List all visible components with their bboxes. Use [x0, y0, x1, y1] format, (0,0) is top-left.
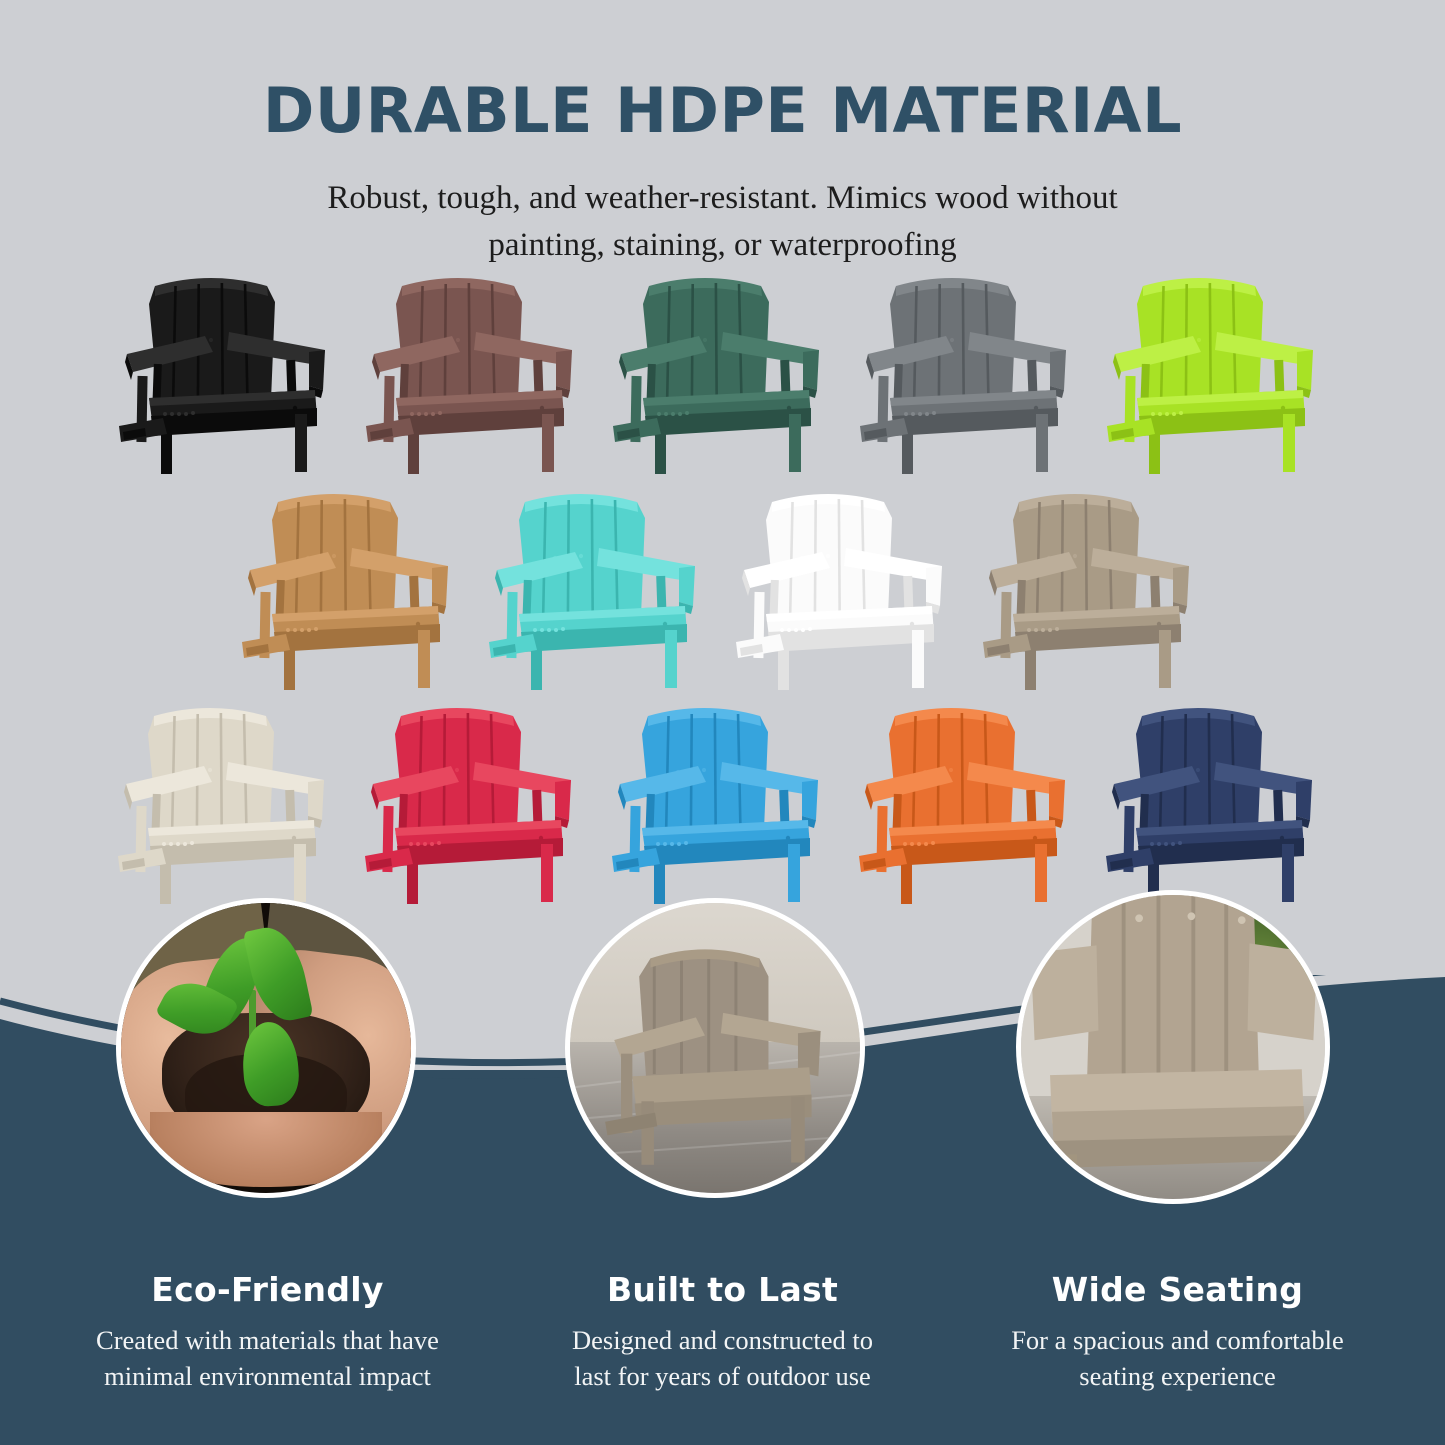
- feature-block: Eco-Friendly Created with materials that…: [40, 1270, 495, 1395]
- feature-image-built-to-last: [565, 898, 865, 1198]
- chair-swatch-light-blue[interactable]: [612, 698, 837, 910]
- chair-seat-subject: [1021, 895, 1325, 1199]
- feature-title: Eco-Friendly: [54, 1270, 481, 1309]
- chair-row-2: [0, 484, 1445, 696]
- feature-images: [0, 890, 1445, 1210]
- chair-swatch-orange[interactable]: [859, 698, 1084, 910]
- page-title: DURABLE HDPE MATERIAL: [0, 78, 1445, 143]
- feature-desc-line-1: For a spacious and comfortable: [1011, 1325, 1344, 1355]
- chair-swatch-dark-green[interactable]: [613, 268, 838, 480]
- chair-swatch-turquoise[interactable]: [489, 484, 714, 696]
- feature-image-eco-friendly: [116, 898, 416, 1198]
- photo-chair-on-patio: [570, 903, 860, 1193]
- chair-swatch-red[interactable]: [365, 698, 590, 910]
- feature-title: Built to Last: [509, 1270, 936, 1309]
- feature-description: Designed and constructed to last for yea…: [509, 1323, 936, 1395]
- feature-desc-line-2: seating experience: [1079, 1361, 1275, 1391]
- chair-swatch-navy-blue[interactable]: [1106, 698, 1331, 910]
- chair-swatch-weathered-wood[interactable]: [983, 484, 1208, 696]
- feature-desc-line-2: last for years of outdoor use: [574, 1361, 871, 1391]
- chair-row-1: [0, 268, 1445, 480]
- chair-swatch-ivory[interactable]: [118, 698, 343, 910]
- feature-description: For a spacious and comfortable seating e…: [964, 1323, 1391, 1395]
- chair-row-3: [0, 698, 1445, 910]
- feature-block: Wide Seating For a spacious and comforta…: [950, 1270, 1405, 1395]
- fingers: [150, 1112, 382, 1187]
- photo-seat-closeup: [1021, 895, 1325, 1199]
- feature-block: Built to Last Designed and constructed t…: [495, 1270, 950, 1395]
- chair-swatch-black[interactable]: [119, 268, 344, 480]
- feature-description: Created with materials that have minimal…: [54, 1323, 481, 1395]
- chair-color-grid: [0, 268, 1445, 910]
- chair-photo-subject: [587, 918, 842, 1185]
- feature-desc-line-1: Created with materials that have: [96, 1325, 439, 1355]
- chair-swatch-brown[interactable]: [366, 268, 591, 480]
- feature-image-wide-seating: [1016, 890, 1330, 1204]
- subtitle-line-1: Robust, tough, and weather-resistant. Mi…: [327, 180, 1117, 216]
- chair-swatch-lime-green[interactable]: [1107, 268, 1332, 480]
- feature-desc-line-1: Designed and constructed to: [572, 1325, 873, 1355]
- infographic-canvas: DURABLE HDPE MATERIAL Robust, tough, and…: [0, 0, 1445, 1445]
- photo-hands-seedling: [121, 903, 411, 1193]
- subtitle-line-2: painting, staining, or waterproofing: [488, 227, 956, 263]
- feature-captions: Eco-Friendly Created with materials that…: [0, 1270, 1445, 1395]
- chair-swatch-white[interactable]: [736, 484, 961, 696]
- feature-desc-line-2: minimal environmental impact: [104, 1361, 431, 1391]
- page-subtitle: Robust, tough, and weather-resistant. Mi…: [0, 175, 1445, 269]
- feature-title: Wide Seating: [964, 1270, 1391, 1309]
- chair-swatch-gray[interactable]: [860, 268, 1085, 480]
- chair-swatch-teak[interactable]: [242, 484, 467, 696]
